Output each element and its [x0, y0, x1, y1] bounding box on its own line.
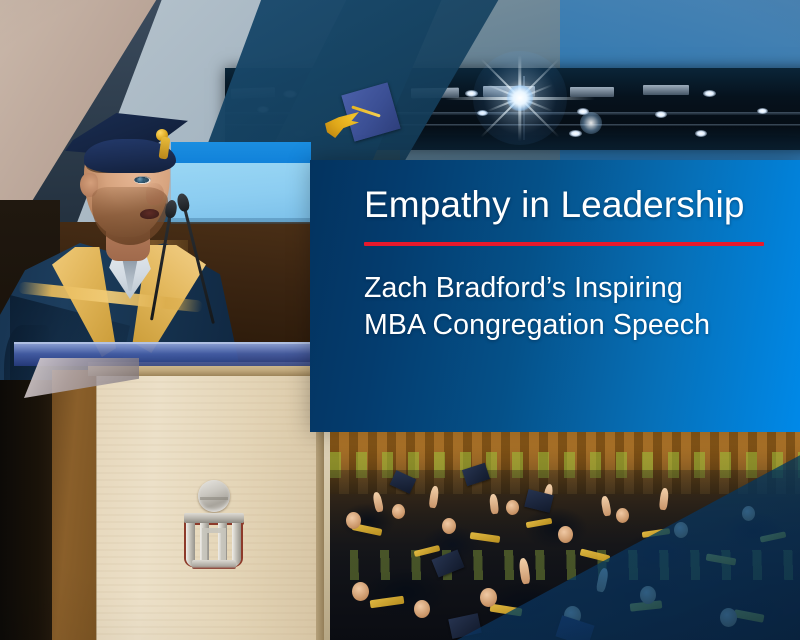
subtitle-line-1: Zach Bradford’s Inspiring: [364, 270, 774, 306]
rig-spotlight: [757, 108, 768, 114]
rig-panel: [643, 85, 689, 95]
university-lamp-emblem: [178, 480, 250, 572]
crowd-face: [442, 518, 456, 534]
rig-spotlight: [569, 130, 582, 137]
emblem-lintel: [184, 513, 244, 523]
lectern-left-shadow: [0, 380, 54, 640]
crowd-face: [346, 512, 361, 529]
crowd-face: [506, 500, 519, 515]
crowd-face: [558, 526, 573, 543]
rig-spotlight: [695, 130, 707, 137]
graduates-crowd-photo: [330, 430, 800, 640]
title-divider: [364, 242, 764, 246]
crowd-face: [352, 582, 369, 601]
page-title: Empathy in Leadership: [364, 186, 774, 224]
emblem-orb: [198, 480, 230, 512]
crowd-face: [392, 504, 405, 519]
subtitle-line-2: MBA Congregation Speech: [364, 307, 774, 343]
rig-spotlight: [655, 111, 667, 118]
emblem-inner-arch: [202, 528, 226, 562]
emblem-base: [192, 560, 236, 569]
lectern-side-panel: [52, 370, 98, 640]
page-subtitle: Zach Bradford’s Inspiring MBA Congregati…: [364, 270, 774, 343]
mortarboard-cap-with-tassel: [325, 88, 403, 150]
flare-secondary-orb: [580, 112, 602, 134]
title-card-graphic: Empathy in Leadership Zach Bradford’s In…: [0, 0, 800, 640]
rig-spotlight: [703, 90, 716, 97]
crowd-face: [616, 508, 629, 523]
crowd-face: [480, 588, 497, 607]
lectern: [0, 340, 330, 640]
crowd-face: [414, 600, 430, 618]
flare-core: [507, 85, 533, 111]
title-panel: Empathy in Leadership Zach Bradford’s In…: [310, 160, 800, 432]
eye: [134, 176, 151, 184]
rig-panel: [570, 87, 614, 97]
